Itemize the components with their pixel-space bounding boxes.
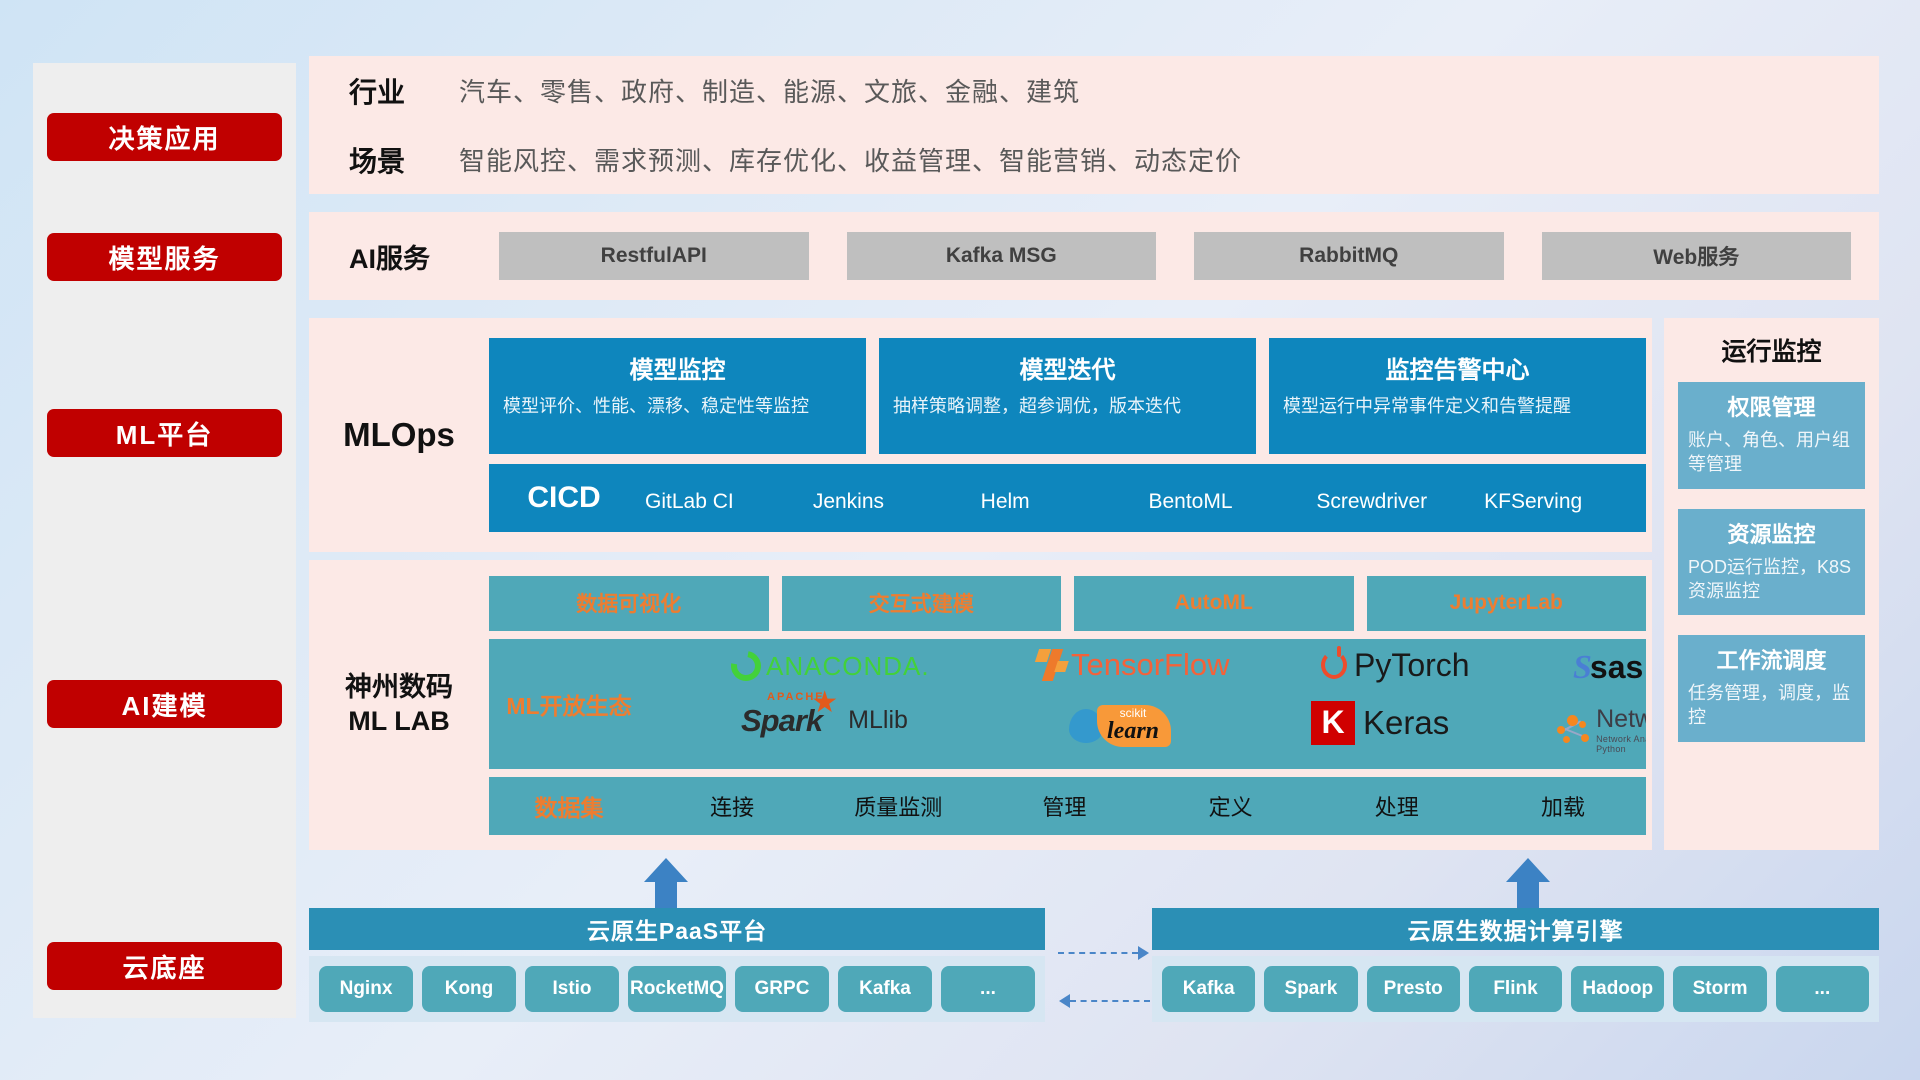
mlops-band: MLOps 模型监控 模型评价、性能、漂移、稳定性等监控 模型迭代 抽样策略调整… <box>309 318 1652 552</box>
dataset-item-load[interactable]: 加载 <box>1480 790 1646 822</box>
spark-logo-text: Spark <box>741 703 822 739</box>
tool-label: 交互式建模 <box>869 588 974 618</box>
networkx-graph-icon <box>1557 712 1591 746</box>
cicd-item-bentoml[interactable]: BentoML <box>1142 485 1310 512</box>
rail-item-label: 云底座 <box>122 948 206 985</box>
card-title: 监控告警中心 <box>1283 350 1632 385</box>
chip-more-left[interactable]: ... <box>941 966 1035 1012</box>
dataset-item-manage[interactable]: 管理 <box>981 790 1147 822</box>
scikit-learn-badge: scikit learn <box>1097 705 1171 747</box>
learn-text: learn <box>1107 719 1159 743</box>
cicd-item-kfserving[interactable]: KFServing <box>1478 485 1646 512</box>
chip-more-right[interactable]: ... <box>1776 966 1869 1012</box>
ml-lab-label-line1: 神州数码 <box>309 671 489 705</box>
mllib-logo-text: MLlib <box>848 706 908 735</box>
mlops-card-alert-center[interactable]: 监控告警中心 模型运行中异常事件定义和告警提醒 <box>1269 338 1646 454</box>
rail-item-ai-modeling[interactable]: AI建模 <box>47 680 282 728</box>
diagram-canvas: 决策应用 模型服务 ML平台 AI建模 云底座 行业 汽车、零售、政府、制造、能… <box>0 0 1920 1080</box>
card-desc: 抽样策略调整，超参调优，版本迭代 <box>893 394 1242 418</box>
eco-label: ML开放生态 <box>489 687 649 721</box>
pytorch-flame-icon <box>1321 651 1347 679</box>
anaconda-ring-icon <box>725 645 767 687</box>
chip-spark[interactable]: Spark <box>1264 966 1357 1012</box>
spark-mllib-logo: APACHE Spark ★ MLlib <box>741 703 908 739</box>
monitor-panel-title: 运行监控 <box>1664 318 1879 382</box>
chip-kong[interactable]: Kong <box>422 966 516 1012</box>
monitor-card-workflow[interactable]: 工作流调度 任务管理，调度，监控 <box>1678 635 1865 742</box>
ai-service-band: AI服务 RestfulAPI Kafka MSG RabbitMQ Web服务 <box>309 212 1879 300</box>
chip-hadoop[interactable]: Hadoop <box>1571 966 1664 1012</box>
cicd-item-jenkins[interactable]: Jenkins <box>807 485 975 512</box>
rail-item-label: 决策应用 <box>108 119 220 156</box>
card-desc: 模型运行中异常事件定义和告警提醒 <box>1283 394 1632 418</box>
chip-storm[interactable]: Storm <box>1673 966 1766 1012</box>
rail-item-label: AI建模 <box>121 686 207 723</box>
sas-logo: S sas <box>1573 649 1643 687</box>
tensorflow-logo: TensorFlow <box>1037 647 1230 683</box>
chip-flink[interactable]: Flink <box>1469 966 1562 1012</box>
ml-lab-label-line2: ML LAB <box>309 705 489 739</box>
pytorch-logo-text: PyTorch <box>1354 647 1470 684</box>
mlops-label: MLOps <box>309 416 489 454</box>
card-desc: 任务管理，调度，监控 <box>1688 681 1855 730</box>
monitor-card-resource[interactable]: 资源监控 POD运行监控，K8S资源监控 <box>1678 509 1865 616</box>
keras-k-icon: K <box>1311 701 1355 745</box>
service-box-kafka-msg[interactable]: Kafka MSG <box>847 232 1157 280</box>
cloud-paas-bar[interactable]: 云原生PaaS平台 <box>309 908 1045 950</box>
tool-label: AutoML <box>1175 591 1253 615</box>
service-box-label: RestfulAPI <box>601 244 707 268</box>
tensorflow-mark-icon <box>1037 649 1067 681</box>
industry-value: 汽车、零售、政府、制造、能源、文旅、金融、建筑 <box>459 72 1080 109</box>
monitor-card-permission[interactable]: 权限管理 账户、角色、用户组等管理 <box>1678 382 1865 489</box>
tensorflow-logo-text: TensorFlow <box>1071 647 1230 683</box>
rail-item-cloud-base[interactable]: 云底座 <box>47 942 282 990</box>
decision-application-band: 行业 汽车、零售、政府、制造、能源、文旅、金融、建筑 场景 智能风控、需求预测、… <box>309 56 1879 194</box>
networkx-logo: NetworkX Network Analysis in Python <box>1557 705 1646 754</box>
card-title: 模型监控 <box>503 350 852 385</box>
dataset-bar: 数据集 连接 质量监测 管理 定义 处理 加载 <box>489 777 1646 835</box>
tool-label: JupyterLab <box>1450 591 1563 615</box>
networkx-logo-text: NetworkX <box>1596 705 1646 734</box>
rail-item-label: 模型服务 <box>108 239 220 276</box>
pytorch-logo: PyTorch <box>1321 647 1470 684</box>
chip-istio[interactable]: Istio <box>525 966 619 1012</box>
chip-grpc[interactable]: GRPC <box>735 966 829 1012</box>
card-desc: POD运行监控，K8S资源监控 <box>1688 555 1855 604</box>
runtime-monitoring-panel: 运行监控 权限管理 账户、角色、用户组等管理 资源监控 POD运行监控，K8S资… <box>1664 318 1879 850</box>
chip-kafka[interactable]: Kafka <box>838 966 932 1012</box>
dataset-item-connect[interactable]: 连接 <box>649 790 815 822</box>
tool-data-visualization[interactable]: 数据可视化 <box>489 576 769 631</box>
service-box-rabbitmq[interactable]: RabbitMQ <box>1194 232 1504 280</box>
mlops-card-model-iteration[interactable]: 模型迭代 抽样策略调整，超参调优，版本迭代 <box>879 338 1256 454</box>
rail-item-model-service[interactable]: 模型服务 <box>47 233 282 281</box>
scenario-label: 场景 <box>309 140 459 180</box>
dataset-item-process[interactable]: 处理 <box>1314 790 1480 822</box>
dataset-item-define[interactable]: 定义 <box>1148 790 1314 822</box>
cloud-data-engine-chip-tray: Kafka Spark Presto Flink Hadoop Storm ..… <box>1152 956 1879 1022</box>
industry-label: 行业 <box>309 71 459 111</box>
tool-interactive-modeling[interactable]: 交互式建模 <box>782 576 1062 631</box>
anaconda-logo: ANACONDA. <box>731 651 930 682</box>
eco-logo-area: ANACONDA. TensorFlow <box>649 639 1646 769</box>
chip-nginx[interactable]: Nginx <box>319 966 413 1012</box>
cicd-title: CICD <box>489 481 639 515</box>
rail-item-ml-platform[interactable]: ML平台 <box>47 409 282 457</box>
left-rail <box>33 63 296 1018</box>
card-title: 工作流调度 <box>1688 643 1855 675</box>
sas-logo-text: sas <box>1590 649 1643 686</box>
cicd-item-helm[interactable]: Helm <box>975 485 1143 512</box>
service-box-label: Kafka MSG <box>946 244 1057 268</box>
ai-service-label: AI服务 <box>349 237 499 276</box>
cloud-paas-chip-tray: Nginx Kong Istio RocketMQ GRPC Kafka ... <box>309 956 1045 1022</box>
ai-modeling-band: 神州数码 ML LAB 数据可视化 交互式建模 AutoML JupyterLa… <box>309 560 1652 850</box>
tool-label: 数据可视化 <box>576 588 681 618</box>
tool-jupyterlab[interactable]: JupyterLab <box>1367 576 1647 631</box>
card-desc: 账户、角色、用户组等管理 <box>1688 428 1855 477</box>
rail-item-label: ML平台 <box>116 415 214 452</box>
cicd-item-gitlab-ci[interactable]: GitLab CI <box>639 485 807 512</box>
cloud-paas-title: 云原生PaaS平台 <box>587 912 767 946</box>
card-title: 权限管理 <box>1688 390 1855 422</box>
cloud-data-engine-bar[interactable]: 云原生数据计算引擎 <box>1152 908 1879 950</box>
card-desc: 模型评价、性能、漂移、稳定性等监控 <box>503 394 852 418</box>
anaconda-logo-text: ANACONDA. <box>766 651 930 682</box>
tool-automl[interactable]: AutoML <box>1074 576 1354 631</box>
service-box-web[interactable]: Web服务 <box>1542 232 1852 280</box>
dataset-title: 数据集 <box>489 789 649 823</box>
ml-open-ecosystem: ML开放生态 ANACONDA. <box>489 639 1646 769</box>
cloud-data-engine-title: 云原生数据计算引擎 <box>1408 912 1624 946</box>
service-box-label: RabbitMQ <box>1299 244 1398 268</box>
card-title: 模型迭代 <box>893 350 1242 385</box>
scikit-learn-logo: scikit learn <box>1069 705 1171 747</box>
chip-presto[interactable]: Presto <box>1367 966 1460 1012</box>
service-box-restfulapi[interactable]: RestfulAPI <box>499 232 809 280</box>
dataset-item-quality[interactable]: 质量监测 <box>815 790 981 822</box>
chip-kafka-right[interactable]: Kafka <box>1162 966 1255 1012</box>
scenario-value: 智能风控、需求预测、库存优化、收益管理、智能营销、动态定价 <box>459 141 1242 178</box>
cicd-bar: CICD GitLab CI Jenkins Helm BentoML Scre… <box>489 464 1646 532</box>
rail-item-decision[interactable]: 决策应用 <box>47 113 282 161</box>
scikit-text: scikit <box>1107 707 1159 719</box>
spark-star-icon: ★ <box>811 685 838 720</box>
cicd-item-screwdriver[interactable]: Screwdriver <box>1310 485 1478 512</box>
keras-logo-text: Keras <box>1363 704 1449 742</box>
mlops-card-model-monitoring[interactable]: 模型监控 模型评价、性能、漂移、稳定性等监控 <box>489 338 866 454</box>
service-box-label: Web服务 <box>1653 241 1739 271</box>
ml-lab-label: 神州数码 ML LAB <box>309 671 489 739</box>
keras-logo: K Keras <box>1311 701 1449 745</box>
chip-rocketmq[interactable]: RocketMQ <box>628 966 726 1012</box>
card-title: 资源监控 <box>1688 517 1855 549</box>
networkx-tagline: Network Analysis in Python <box>1596 734 1646 754</box>
